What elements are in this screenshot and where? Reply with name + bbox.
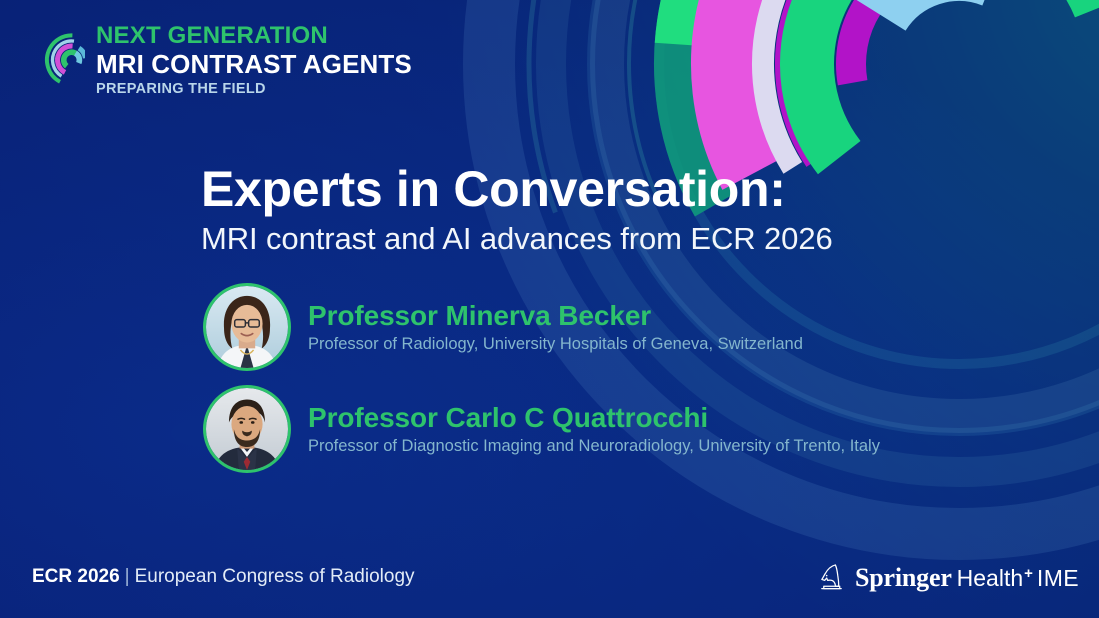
- health-word: Health: [957, 565, 1023, 592]
- speaker-text: Professor Minerva Becker Professor of Ra…: [308, 300, 803, 354]
- speaker-list: Professor Minerva Becker Professor of Ra…: [203, 283, 1023, 487]
- brand-line-mri-contrast-agents: MRI CONTRAST AGENTS: [96, 51, 412, 77]
- avatar-ring: [203, 385, 291, 473]
- speaker-item: Professor Carlo C Quattrocchi Professor …: [203, 385, 1023, 473]
- brand-line-tagline: PREPARING THE FIELD: [96, 82, 412, 97]
- avatar-ring: [203, 283, 291, 371]
- speaker-item: Professor Minerva Becker Professor of Ra…: [203, 283, 1023, 371]
- brand-line-next-generation: NEXT GENERATION: [96, 24, 412, 48]
- springer-wordmark: Springer Health + IME: [855, 563, 1079, 593]
- speaker-text: Professor Carlo C Quattrocchi Professor …: [308, 402, 880, 456]
- presentation-slide: NEXT GENERATION MRI CONTRAST AGENTS PREP…: [0, 0, 1099, 618]
- plus-superscript: +: [1024, 565, 1033, 582]
- page-subtitle: MRI contrast and AI advances from ECR 20…: [201, 222, 921, 257]
- speaker-name: Professor Minerva Becker: [308, 300, 803, 331]
- footer-event-code: ECR 2026: [32, 566, 120, 587]
- headline-block: Experts in Conversation: MRI contrast an…: [201, 162, 921, 257]
- speaker-name: Professor Carlo C Quattrocchi: [308, 402, 880, 433]
- ime-word: IME: [1037, 565, 1079, 592]
- brand-logo: NEXT GENERATION MRI CONTRAST AGENTS PREP…: [29, 24, 412, 97]
- springer-knight-icon: [817, 562, 846, 593]
- concentric-arc-mark-icon: [29, 28, 85, 92]
- footer-separator: |: [125, 566, 130, 587]
- springer-word: Springer: [855, 563, 952, 593]
- footer-event-info: ECR 2026|European Congress of Radiology: [32, 566, 415, 588]
- page-title: Experts in Conversation:: [201, 162, 921, 216]
- footer-event-name: European Congress of Radiology: [135, 566, 415, 587]
- speaker-affiliation: Professor of Diagnostic Imaging and Neur…: [308, 437, 880, 456]
- springer-health-ime-logo: Springer Health + IME: [817, 562, 1079, 593]
- avatar-minerva-becker: [203, 283, 291, 371]
- avatar-carlo-quattrocchi: [203, 385, 291, 473]
- speaker-affiliation: Professor of Radiology, University Hospi…: [308, 335, 803, 354]
- brand-logo-text: NEXT GENERATION MRI CONTRAST AGENTS PREP…: [96, 24, 412, 97]
